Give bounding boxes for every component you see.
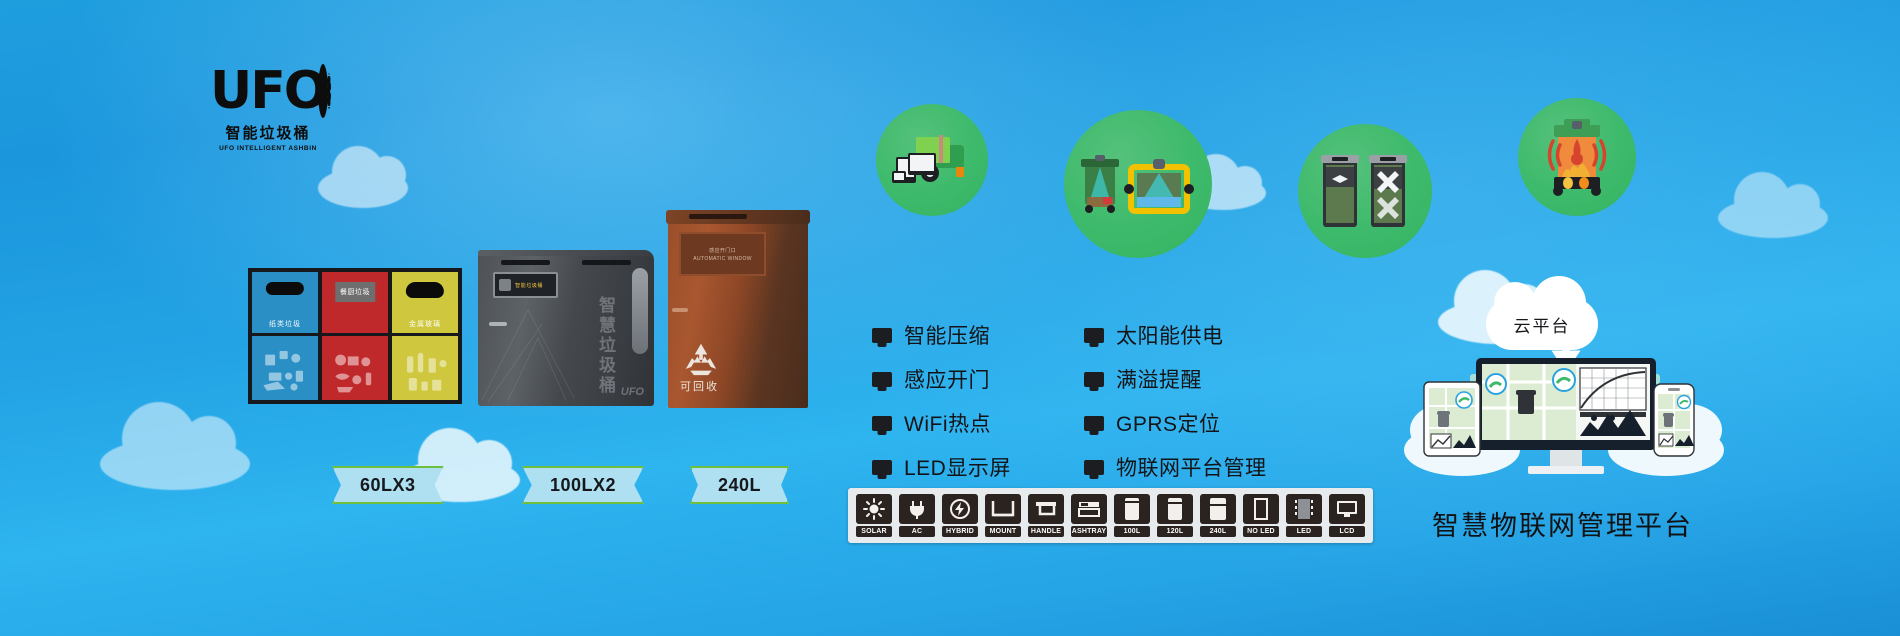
monitor-icon: [872, 460, 892, 475]
spec-icon-handle: HANDLE: [1028, 494, 1064, 537]
feature-label: 太阳能供电: [1116, 320, 1224, 350]
smart-double-bin: 智能垃圾桶 智慧垃圾桶 UFO: [478, 250, 654, 406]
spec-icon-hybrid: HYBRID: [942, 494, 978, 537]
spec-icon-label: AC: [899, 526, 935, 537]
spec-icon-mount: MOUNT: [985, 494, 1021, 537]
spec-icon-label: 120L: [1157, 526, 1193, 537]
spec-icon-label: HYBRID: [942, 526, 978, 537]
spec-icon-240l: 240L: [1200, 494, 1236, 537]
feature-item: 太阳能供电: [1084, 320, 1304, 350]
bin-overflow-sensor-icon: [1079, 141, 1197, 227]
fire-alarm-circle: [1518, 98, 1636, 216]
monitor-icon: [1084, 416, 1104, 431]
bin-120l-icon: [1157, 494, 1193, 524]
spec-icon-lcd: LCD: [1329, 494, 1365, 537]
marketing-banner: UFO 智能垃圾桶 UFO INTELLIGENT ASHBIN 纸类垃圾: [0, 0, 1900, 636]
logo-wordmark: UFO: [210, 65, 326, 117]
bin-lower-panel: [322, 333, 388, 400]
spec-icon-120l: 120L: [1157, 494, 1193, 537]
spec-icon-label: ASHTRAY: [1071, 526, 1107, 537]
feature-label: 物联网平台管理: [1116, 452, 1267, 482]
ashtray-icon: [1071, 494, 1107, 524]
lcd-icon: [1329, 494, 1365, 524]
spec-icon-label: LED: [1286, 526, 1322, 537]
feature-label: LED显示屏: [904, 452, 1011, 482]
led-icon: [1286, 494, 1322, 524]
bin-display-panel: 餐厨垃圾: [333, 280, 377, 304]
capacity-badge: 60LX3: [332, 466, 444, 504]
bin-compaction-icon: [1315, 145, 1415, 237]
bin-upper-panel: 金属玻璃: [392, 272, 458, 333]
bin-body: 感应开门口 AUTOMATIC WINDOW 可回收: [668, 220, 808, 408]
spec-icon-label: NO LED: [1243, 526, 1279, 537]
bin-compartment-metal-glass: 金属玻璃: [390, 268, 462, 404]
bin-compartment-label: 纸类垃圾: [269, 319, 301, 329]
bin-compartment-label: 餐厨垃圾: [340, 287, 370, 297]
feature-item: GPRS定位: [1084, 408, 1304, 438]
bin-lower-panel: [252, 333, 318, 400]
bin-recycle-label: 可回收: [680, 378, 719, 394]
panel-line-cn: 感应开门口: [709, 247, 736, 254]
capacity-badge: 240L: [690, 466, 789, 504]
feature-list: 智能压缩 太阳能供电 感应开门 满溢提醒 WiFi热点 GPRS定位 LED显示…: [872, 320, 1304, 482]
oval-slot-icon: [266, 282, 304, 295]
iot-platform-graphic: [1398, 338, 1734, 490]
fleet-dispatch-circle: [876, 104, 988, 216]
bin-compartment-paper: 纸类垃圾: [248, 268, 320, 404]
handle-icon: [1028, 494, 1064, 524]
cloud-decoration: [318, 168, 408, 208]
bin-100l-icon: [1114, 494, 1150, 524]
bin-top-cover: [666, 210, 810, 224]
three-compartment-recycling-bin: 纸类垃圾 餐厨垃圾: [248, 268, 462, 404]
bin-sensor-panel: 感应开门口 AUTOMATIC WINDOW: [679, 232, 766, 276]
bin-deposit-slot: [689, 214, 747, 219]
sun-icon: [856, 494, 892, 524]
cloud-decoration: [1718, 198, 1828, 238]
spec-icon-100l: 100L: [1114, 494, 1150, 537]
logo-cn-text: 智能垃圾桶: [210, 122, 326, 143]
feature-label: WiFi热点: [904, 408, 991, 438]
bottle-slot-icon: [406, 282, 444, 298]
ufo-ring-icon: [318, 64, 328, 118]
bin-upper-panel: 纸类垃圾: [252, 272, 318, 333]
spec-icon-label: MOUNT: [985, 526, 1021, 537]
spec-icon-ashtray: ASHTRAY: [1071, 494, 1107, 537]
devices-illustration: [1398, 338, 1734, 490]
bin-fire-alarm-icon: [1534, 115, 1620, 199]
cloud-decoration: [100, 438, 250, 490]
logo-en-text: UFO INTELLIGENT ASHBIN: [210, 145, 326, 152]
wall-mount-icon: [985, 494, 1021, 524]
kitchen-waste-illustration: [328, 342, 382, 396]
fill-level-circle: [1064, 110, 1212, 258]
spec-icon-ac: AC: [899, 494, 935, 537]
platform-title: 智慧物联网管理平台: [1432, 504, 1693, 543]
monitor-icon: [1084, 460, 1104, 475]
power-plug-icon: [899, 494, 935, 524]
feature-item: WiFi热点: [872, 408, 1072, 438]
bin-compartment-kitchen: 餐厨垃圾: [320, 268, 390, 404]
feature-label: GPRS定位: [1116, 408, 1221, 438]
monitor-icon: [1084, 372, 1104, 387]
feature-label: 感应开门: [904, 364, 990, 394]
spec-icon-label: LCD: [1329, 526, 1365, 537]
feature-item: 感应开门: [872, 364, 1072, 394]
feature-label: 智能压缩: [904, 320, 990, 350]
bin-lower-panel: [392, 333, 458, 400]
spec-icon-label: HANDLE: [1028, 526, 1064, 537]
feature-item: 满溢提醒: [1084, 364, 1304, 394]
logo-mark: UFO: [210, 62, 326, 120]
recycle-icon: [682, 342, 720, 376]
spec-icon-strip: SOLAR AC HYBRID MOUNT: [848, 488, 1373, 543]
bin-handle: [672, 308, 688, 312]
spec-icon-led: LED: [1286, 494, 1322, 537]
spec-icon-label: 100L: [1114, 526, 1150, 537]
monitor-icon: [1084, 328, 1104, 343]
compaction-circle: [1298, 124, 1432, 258]
feature-item: 物联网平台管理: [1084, 452, 1304, 482]
feature-item: LED显示屏: [872, 452, 1072, 482]
hybrid-power-icon: [942, 494, 978, 524]
bin-240l-icon: [1200, 494, 1236, 524]
bin-surface-texture: [478, 250, 654, 406]
panel-line-en: AUTOMATIC WINDOW: [693, 256, 752, 262]
spec-icon-solar: SOLAR: [856, 494, 892, 537]
spec-icon-no-led: NO LED: [1243, 494, 1279, 537]
bin-compartment-label: 金属玻璃: [409, 319, 441, 329]
capacity-badge: 100LX2: [522, 466, 644, 504]
spec-icon-label: 240L: [1200, 526, 1236, 537]
paper-waste-illustration: [258, 342, 312, 396]
monitor-icon: [872, 416, 892, 431]
recycling-bin-240l: 感应开门口 AUTOMATIC WINDOW 可回收: [668, 220, 808, 408]
brand-logo: UFO 智能垃圾桶 UFO INTELLIGENT ASHBIN: [210, 62, 326, 152]
spec-icon-label: SOLAR: [856, 526, 892, 537]
monitor-icon: [872, 328, 892, 343]
cloud-platform-label: 云平台: [1514, 312, 1571, 337]
monitor-icon: [872, 372, 892, 387]
metal-glass-waste-illustration: [398, 342, 452, 396]
feature-label: 满溢提醒: [1116, 364, 1202, 394]
feature-item: 智能压缩: [872, 320, 1072, 350]
garbage-truck-icon: [890, 127, 974, 193]
bin-body: 智能垃圾桶 智慧垃圾桶 UFO: [478, 250, 654, 406]
no-led-icon: [1243, 494, 1279, 524]
bin-upper-panel: 餐厨垃圾: [322, 272, 388, 333]
